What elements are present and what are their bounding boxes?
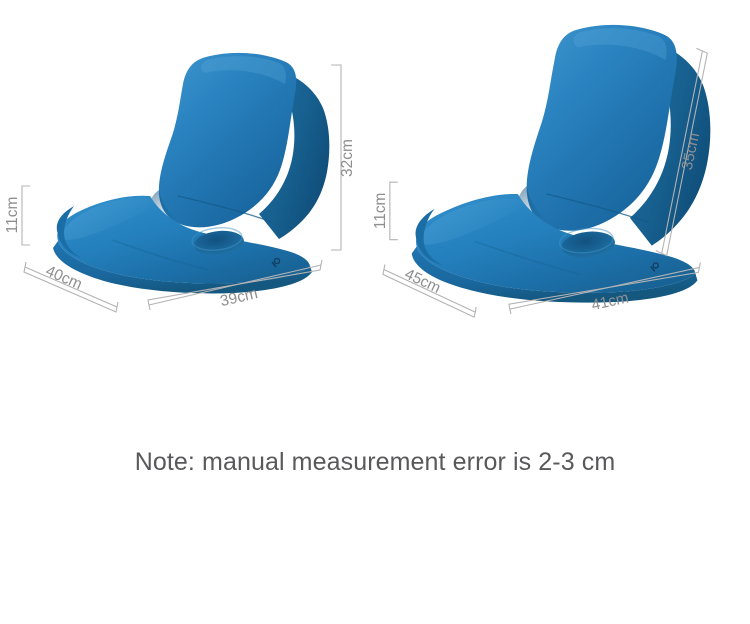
dim-label-back-height: 32cm <box>339 139 356 177</box>
product-dimension-diagram: 11cm 32cm 40cm 39cm <box>0 0 750 624</box>
dim-label-height-side: 11cm <box>372 193 389 229</box>
product-image-left: 11cm 32cm 40cm 39cm <box>0 0 375 400</box>
cushion-illustration <box>412 25 711 303</box>
measurement-note: Note: manual measurement error is 2-3 cm <box>0 448 750 477</box>
dim-line-height-side <box>390 182 398 240</box>
dim-label-height-side: 11cm <box>4 197 21 234</box>
cushion-illustration <box>53 53 329 294</box>
product-image-right: 11cm 35cm 45cm 41cm <box>372 0 747 400</box>
dim-line-height-side <box>22 186 30 245</box>
